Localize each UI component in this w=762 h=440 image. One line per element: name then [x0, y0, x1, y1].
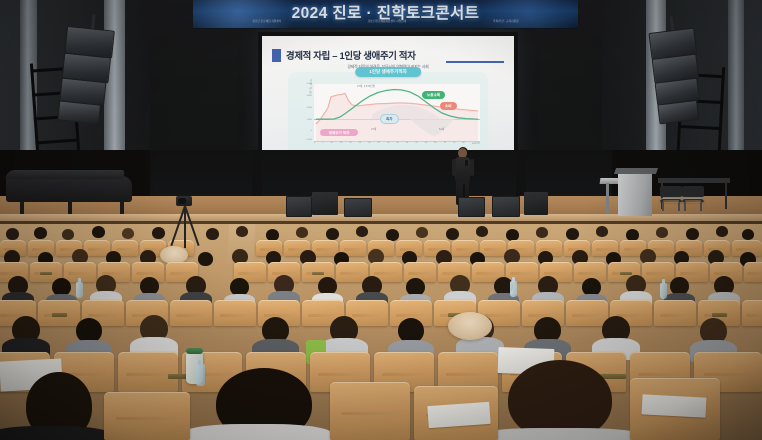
xtick-9: 45: [396, 142, 398, 145]
front-seat-1: [330, 382, 410, 440]
slide-accent-bar: [272, 49, 281, 62]
chart-title-pill: 1인당 생애주기적자: [355, 67, 421, 77]
ytick-2: 2,000: [307, 107, 312, 109]
banner-subtitle-2: 청소년진로체험지원센터 사업안내: [368, 19, 406, 23]
event-banner: 2024 진로 · 진학토크콘서트 청소년 진로체험 지원센터 청소년진로체험지…: [193, 0, 578, 29]
banner-subtitle-row: 청소년 진로체험 지원센터 청소년진로체험지원센터 사업안내 주최/주관 : 교…: [193, 19, 578, 23]
auditorium-photo: 2024 진로 · 진학토크콘서트 청소년 진로체험 지원센터 청소년진로체험지…: [0, 0, 762, 440]
xtick-12: 60: [425, 142, 427, 145]
ytick-1: 3,000: [307, 95, 312, 97]
piano-lid: [5, 170, 125, 179]
projection-screen: 경제적 자립 – 1인당 생애주기 적자 경제적 자립의 어려움, 부모님의 영…: [258, 32, 518, 169]
xtick-8: 40: [387, 142, 389, 145]
banner-subtitle-3: 주최/주관 : 교육지원청: [493, 19, 519, 23]
annotation-peak: 27세, 3,579만원: [352, 82, 380, 89]
stage-table: [658, 178, 730, 183]
label-lifecycle-deficit: 생애주기 적자: [320, 129, 358, 136]
stage-chair-1: [660, 186, 682, 210]
chart-xaxis: 0 5 10 15 20 25 30 35 40 45 50 55 60 65 …: [314, 142, 480, 145]
podium: [618, 172, 652, 216]
camera-tripod: [168, 196, 202, 248]
ytick-0: 4,000: [307, 83, 312, 85]
slide-title-rule: [446, 61, 504, 63]
handout-3: [427, 402, 490, 428]
stage-chair-2: [682, 186, 704, 210]
chart-ylabel: 금액(만원): [309, 78, 312, 94]
presenter-arm-left: [452, 159, 456, 176]
xtick-14: 70: [444, 142, 446, 145]
xtick-10: 50: [406, 142, 408, 145]
front-seat-4: [104, 392, 190, 440]
video-camera-icon: [176, 196, 192, 206]
label-consumption: 소비: [440, 102, 457, 110]
xtick-15: 75: [453, 142, 455, 145]
xtick-1: 5: [322, 142, 323, 145]
xtick-7: 35: [378, 142, 380, 145]
xtick-11: 55: [415, 142, 417, 145]
label-labor-income: 노동소득: [422, 91, 445, 99]
presenter-arm-right: [470, 159, 474, 176]
ytick-3: 1,000: [307, 119, 312, 121]
xtick-2: 10: [331, 142, 333, 145]
annotation-age-27: 27세: [366, 125, 381, 132]
stage-monitor-5: [492, 196, 520, 217]
annotation-age-61: 61세: [434, 125, 449, 132]
xtick-5: 25: [359, 142, 361, 145]
banner-subtitle-1: 청소년 진로체험 지원센터: [252, 19, 281, 23]
ytick-4: 0: [311, 130, 312, 132]
xtick-13: 65: [434, 142, 436, 145]
line-array-speaker-left-icon: [57, 26, 115, 126]
xtick-16: 80: [462, 142, 464, 145]
microphone-icon: [465, 160, 468, 166]
grand-piano: [6, 176, 132, 202]
stage-monitor-3: [344, 198, 372, 217]
slide-title: 경제적 자립 – 1인당 생애주기 적자: [286, 48, 416, 62]
stage-monitor-4: [458, 197, 485, 217]
ytick-5: -1,000: [306, 139, 312, 141]
presenter-torso: [455, 157, 470, 182]
label-surplus: 흑자: [380, 114, 399, 124]
handout-4: [642, 394, 707, 417]
chart-card: 1인당 생애주기적자 금액(만원) 4,000 3,000 2,000 1,00…: [288, 72, 488, 156]
water-bottle: [196, 364, 205, 386]
xtick-4: 20: [349, 142, 351, 145]
sun-hat-2: [448, 312, 492, 340]
xtick-6: 30: [368, 142, 370, 145]
lifecycle-deficit-chart: 금액(만원) 4,000 3,000 2,000 1,000 0 -1,000: [314, 84, 480, 142]
presentation-slide: 경제적 자립 – 1인당 생애주기 적자 경제적 자립의 어려움, 부모님의 영…: [262, 36, 514, 165]
stage-monitor-2: [312, 192, 338, 215]
stage-monitor-6: [524, 192, 548, 215]
xtick-0: 0: [314, 142, 315, 145]
xtick-17: 85세이상: [472, 142, 480, 145]
stage-monitor-1: [286, 196, 312, 217]
xtick-3: 15: [340, 142, 342, 145]
